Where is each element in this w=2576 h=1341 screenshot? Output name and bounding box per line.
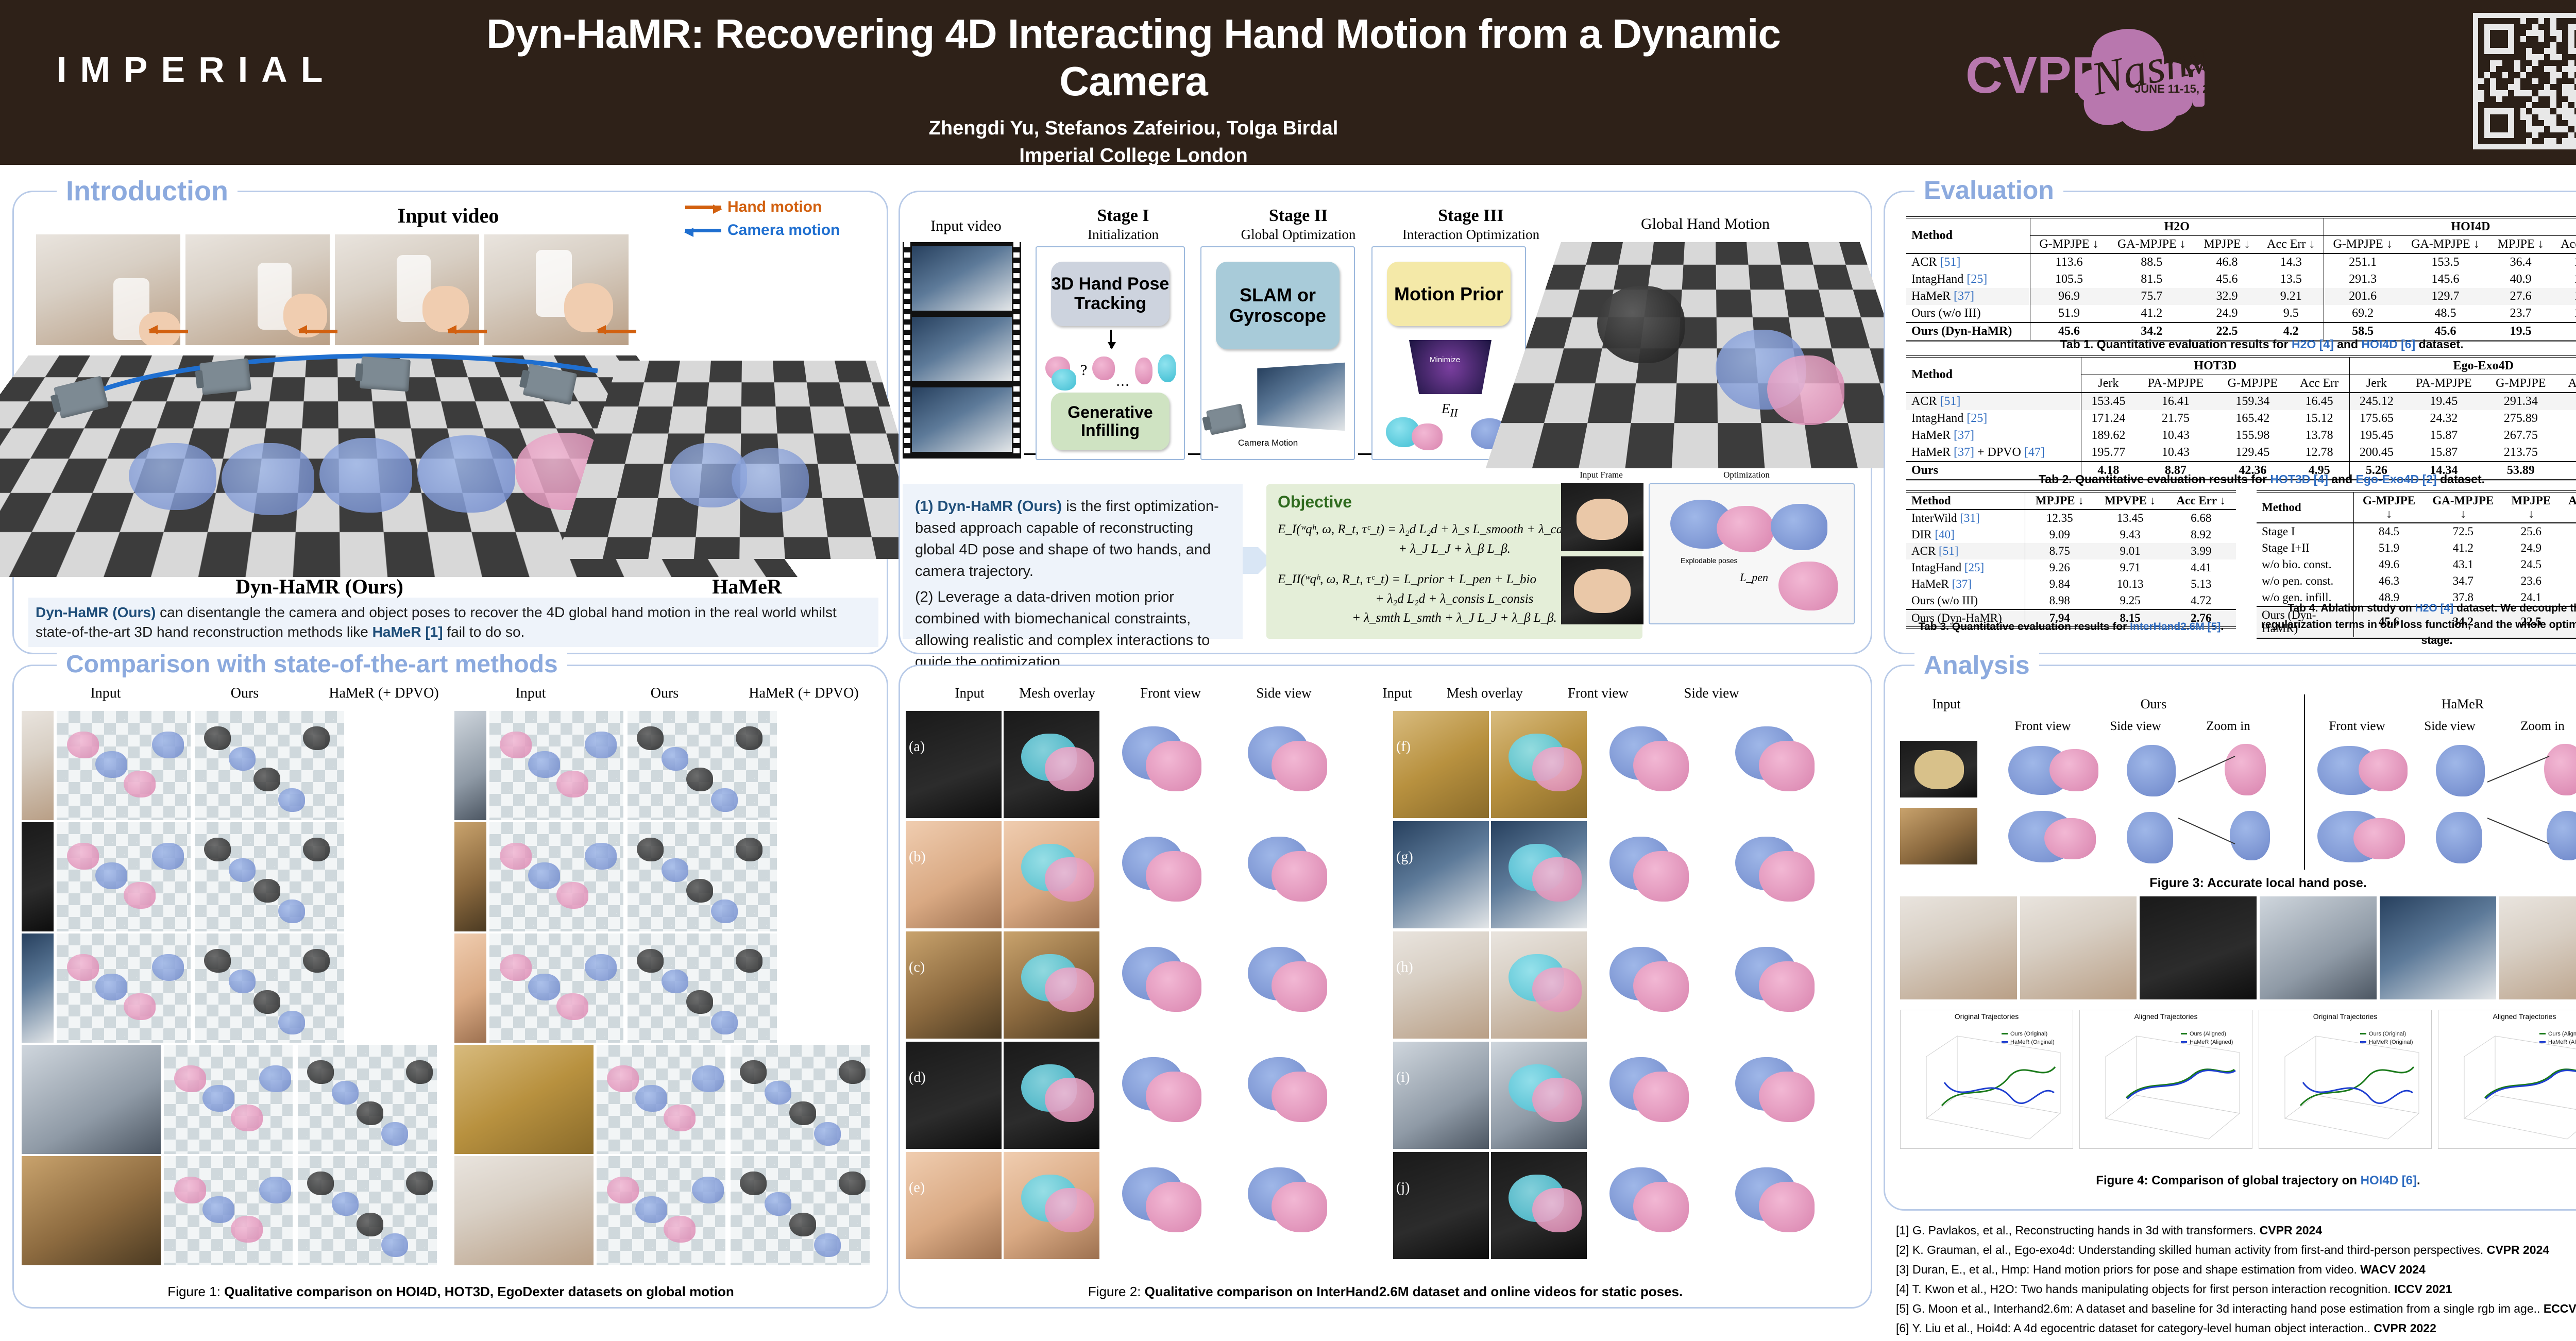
comparison-render-ours <box>489 711 623 820</box>
reference-venue: CVPR 2024 <box>2260 1224 2322 1237</box>
static-input-thumb: (j) <box>1393 1152 1489 1259</box>
reference-text: T. Kwon et al., H2O: Two hands manipulat… <box>1912 1282 2394 1296</box>
trajectory-plot-title: Original Trajectories <box>1901 1010 2073 1021</box>
input-frame-3 <box>335 234 479 345</box>
title-block: Dyn-HaMR: Recovering 4D Interacting Hand… <box>428 10 1839 167</box>
stage-3-id: Stage III <box>1386 206 1556 226</box>
figure-3-caption: Figure 3: Accurate local hand pose. <box>1900 876 2576 891</box>
introduction-caption: Dyn-HaMR (Ours) can disentangle the came… <box>28 598 878 647</box>
static-row-tag: (h) <box>1396 959 1413 976</box>
figure-4-caption: Figure 4: Comparison of global trajector… <box>1900 1174 2576 1188</box>
static-mesh-overlay <box>1004 1152 1099 1259</box>
intro-caption-tail: fail to do so. <box>443 624 525 640</box>
static-row-tag: (d) <box>909 1070 926 1086</box>
static-input-thumb: (h) <box>1393 931 1489 1039</box>
static-input-thumb: (e) <box>906 1152 1002 1259</box>
comparison-render-ours <box>597 1156 725 1265</box>
stage-1-chip-generative-infilling[interactable]: Generative Infilling <box>1051 393 1170 450</box>
reference-venue: ECCV 2020 <box>2544 1302 2576 1315</box>
comparison-col-header-2: HaMeR (+ DPVO) <box>325 685 443 702</box>
analysis-view-headers: Front viewSide viewZoom inFront viewSide… <box>1989 719 2576 740</box>
input-frame-sublabel: Input Frame <box>1560 470 1642 480</box>
static-input-thumb: (g) <box>1393 821 1489 928</box>
static-row-tag: (i) <box>1396 1070 1410 1086</box>
optimization-sublabel: Optimization <box>1659 470 1834 480</box>
analysis-render-row-2 <box>1900 808 2576 870</box>
hand-mesh-ours-1 <box>129 443 216 510</box>
comparison-input-thumb <box>454 933 486 1043</box>
table-1: MethodH2OHOI4DG-MPJPE ↓GA-MPJPE ↓MPJPE ↓… <box>1906 216 2576 342</box>
input-frame-1 <box>36 234 180 345</box>
contribution-2: (2) Leverage a data-driven motion prior … <box>915 586 1230 673</box>
comparison-render-ours <box>597 1045 725 1154</box>
static-input-thumb: (b) <box>906 821 1002 928</box>
input-frame-thumb-1 <box>1561 483 1643 551</box>
analysis-view-header-1: Side view <box>2087 719 2184 734</box>
analysis-view-header-4: Side view <box>2401 719 2499 734</box>
analysis-view-header-0: Front view <box>1994 719 2092 734</box>
analysis-group-header-ours: Ours <box>2009 697 2298 712</box>
static-front-view <box>1596 931 1709 1039</box>
section-title-evaluation: Evaluation <box>1914 175 2063 205</box>
hand-mesh-ours-4 <box>417 435 515 513</box>
comparison-render-baseline <box>731 1045 870 1154</box>
static-front-view <box>1109 711 1222 818</box>
cvpr-nashville-logo: CVPR Nashville JUNE 11-15, 2025 <box>1960 15 2208 139</box>
static-side-view <box>1713 711 1826 818</box>
trajectory-plot-title: Original Trajectories <box>2259 1010 2431 1021</box>
references-list: [1] G. Pavlakos, et al., Reconstructing … <box>1896 1224 2576 1341</box>
comparison-input-thumb <box>454 1045 594 1154</box>
static-col-header-3: Side view <box>1232 685 1335 701</box>
comparison-col-header-3: Input <box>471 685 590 702</box>
static-side-view <box>1225 1152 1338 1259</box>
svg-text:HaMeR (Original): HaMeR (Original) <box>2010 1039 2055 1045</box>
table-2-caption: Tab 2. Quantitative evaluation results f… <box>1906 472 2576 486</box>
static-input-thumb: (i) <box>1393 1042 1489 1149</box>
static-input-thumb: (d) <box>906 1042 1002 1149</box>
stage-3-subtitle: Interaction Optimization <box>1381 227 1561 243</box>
section-title-introduction: Introduction <box>57 175 238 207</box>
stage-1-tracked-hands: ? … <box>1043 350 1180 392</box>
analysis-view-header-3: Front view <box>2308 719 2406 734</box>
trajectory-plot-0: Original TrajectoriesOurs (Original)HaMe… <box>1900 1010 2073 1149</box>
reference-item: [1] G. Pavlakos, et al., Reconstructing … <box>1896 1224 2576 1237</box>
contributions-to-objective-arrow <box>1243 547 1258 574</box>
affiliation: Imperial College London <box>428 145 1839 167</box>
comparison-input-thumb <box>454 822 486 931</box>
static-mesh-overlay <box>1004 1042 1099 1149</box>
comparison-input-thumb <box>454 1156 594 1265</box>
comparison-render-baseline <box>195 822 344 931</box>
svg-text:Ours (Original): Ours (Original) <box>2369 1031 2406 1037</box>
optimization-thumb-box: Explodable poses L_pen <box>1649 483 1855 624</box>
static-front-view <box>1109 1152 1222 1259</box>
reference-text: G. Moon et al., Interhand2.6m: A dataset… <box>1912 1302 2544 1315</box>
global-hand-motion-render <box>1485 242 1935 468</box>
table-3: MethodMPJPE ↓MPVPE ↓Acc Err ↓InterWild [… <box>1906 490 2236 629</box>
static-row-tag: (j) <box>1396 1180 1410 1196</box>
static-side-view <box>1225 931 1338 1039</box>
legend-hand-motion: Hand motion <box>685 198 822 216</box>
svg-text:HaMeR (Original): HaMeR (Original) <box>2369 1039 2413 1045</box>
comparison-col-header-1: Ours <box>185 685 304 702</box>
static-row-tag: (c) <box>909 959 925 976</box>
svg-text:Ours (Aligned): Ours (Aligned) <box>2190 1031 2226 1037</box>
stage-1-chip-hand-pose-tracking[interactable]: 3D Hand Pose Tracking <box>1051 262 1170 326</box>
comparison-render-ours <box>489 822 623 931</box>
figure-2-caption: Figure 2: Qualitative comparison on Inte… <box>903 1284 1868 1300</box>
comparison-col-header-5: HaMeR (+ DPVO) <box>744 685 863 702</box>
analysis-group-header-hamer: HaMeR <box>2318 697 2576 712</box>
camera-icon-2 <box>199 358 251 395</box>
svg-text:JUNE 11-15, 2025: JUNE 11-15, 2025 <box>2134 82 2208 95</box>
static-col-header-1: Mesh overlay <box>1006 685 1109 701</box>
result-label-baseline: HaMeR <box>634 574 860 599</box>
reference-number: [3] <box>1896 1263 1909 1276</box>
comparison-render-ours <box>57 822 191 931</box>
hand-mesh-hamer-2 <box>732 448 809 513</box>
reference-number: [2] <box>1896 1243 1909 1257</box>
intro-caption-ref: HaMeR [1] <box>372 624 443 640</box>
comparison-render-ours <box>57 711 191 820</box>
svg-text:HaMeR (Aligned): HaMeR (Aligned) <box>2190 1039 2233 1045</box>
reference-item: [6] Y. Liu et al., Hoi4d: A 4d egocentri… <box>1896 1321 2576 1335</box>
hand-mesh-ours-2 <box>222 443 314 515</box>
stage-2-id: Stage II <box>1216 206 1381 226</box>
static-row-tag: (a) <box>909 739 925 755</box>
hand-motion-arrow-1 <box>149 330 188 333</box>
global-motion-hand-dark <box>1597 286 1685 363</box>
static-side-view <box>1713 1042 1826 1149</box>
comparison-input-thumb <box>22 711 54 820</box>
poster-header: IMPERIAL Dyn-HaMR: Recovering 4D Interac… <box>0 0 2576 165</box>
static-input-thumb: (c) <box>906 931 1002 1039</box>
table-4-caption: Tab 4. Ablation study on H2O [4] dataset… <box>2251 600 2576 649</box>
hand-motion-legend-label: Hand motion <box>727 198 822 216</box>
hand-motion-arrow-4 <box>598 330 636 333</box>
hand-motion-legend-arrow <box>685 206 721 209</box>
static-mesh-overlay <box>1004 931 1099 1039</box>
comparison-render-baseline <box>731 1156 870 1265</box>
reference-item: [4] T. Kwon et al., H2O: Two hands manip… <box>1896 1282 2576 1296</box>
section-title-comparison: Comparison with state-of-the-art methods <box>57 650 567 678</box>
comparison-input-thumb <box>22 1156 161 1265</box>
comparison-input-thumb <box>454 711 486 820</box>
static-side-view <box>1225 1042 1338 1149</box>
comparison-input-thumb <box>22 822 54 931</box>
static-input-thumb: (f) <box>1393 711 1489 818</box>
comparison-col-header-0: Input <box>46 685 165 702</box>
hand-mesh-ours-3 <box>319 438 412 513</box>
static-col-header-5: Mesh overlay <box>1433 685 1536 701</box>
comparison-render-baseline <box>195 933 344 1043</box>
trajectory-plot-title: Aligned Trajectories <box>2438 1010 2576 1021</box>
trajectory-plot-3: Aligned TrajectoriesOurs (Aligned)HaMeR … <box>2438 1010 2576 1149</box>
table-1-caption: Tab 1. Quantitative evaluation results f… <box>1906 337 2576 351</box>
pipeline-input-label: Input video <box>907 217 1025 235</box>
svg-text:HaMeR (Aligned): HaMeR (Aligned) <box>2548 1039 2576 1045</box>
comparison-render-baseline <box>628 711 777 820</box>
comparison-input-thumb <box>22 933 54 1043</box>
legend-camera-motion: Camera motion <box>685 222 840 239</box>
reference-text: Y. Liu et al., Hoi4d: A 4d egocentric da… <box>1912 1321 2374 1335</box>
static-mesh-overlay <box>1491 1042 1587 1149</box>
static-mesh-overlay <box>1004 821 1099 928</box>
stage-1-arrow-down <box>1110 330 1112 348</box>
stage-3-chip-motion-prior[interactable]: Motion Prior <box>1387 262 1511 326</box>
comparison-render-baseline <box>628 933 777 1043</box>
static-row-tag: (f) <box>1396 739 1411 755</box>
static-side-view <box>1713 1152 1826 1259</box>
global-motion-hand-pink <box>1767 355 1844 425</box>
static-mesh-overlay <box>1491 931 1587 1039</box>
stage-1-subtitle: Initialization <box>1046 227 1200 243</box>
camera-motion-legend-arrow <box>685 229 721 232</box>
reference-item: [5] G. Moon et al., Interhand2.6m: A dat… <box>1896 1302 2576 1316</box>
svg-text:Ours (Original): Ours (Original) <box>2010 1031 2047 1037</box>
static-side-view <box>1713 931 1826 1039</box>
static-row-tag: (b) <box>909 849 926 865</box>
analysis-photo-strip <box>1900 896 2576 999</box>
pipeline-output-label: Global Hand Motion <box>1592 215 1819 233</box>
static-col-header-7: Side view <box>1660 685 1763 701</box>
analysis-render-row-1 <box>1900 741 2576 803</box>
section-title-analysis: Analysis <box>1914 650 2039 680</box>
contributions-box: (1) Dyn-HaMR (Ours) is the first optimiz… <box>903 484 1243 639</box>
analysis-view-header-2: Zoom in <box>2179 719 2277 734</box>
static-row-tag: (g) <box>1396 849 1413 865</box>
result-label-ours: Dyn-HaMR (Ours) <box>160 574 479 599</box>
comparison-render-baseline <box>298 1045 437 1154</box>
input-video-label: Input video <box>350 203 546 228</box>
comparison-render-ours <box>489 933 623 1043</box>
pipeline-input-filmstrip <box>903 242 1021 459</box>
static-col-headers: InputMesh overlayFront viewSide viewInpu… <box>903 685 1868 707</box>
reference-venue: WACV 2024 <box>2360 1263 2426 1276</box>
hand-motion-arrow-3 <box>448 330 487 333</box>
stage-2-subtitle: Global Optimization <box>1211 227 1386 243</box>
reference-number: [4] <box>1896 1282 1909 1296</box>
reference-item: [2] K. Grauman, el al., Ego-exo4d: Under… <box>1896 1243 2576 1257</box>
reference-number: [1] <box>1896 1224 1909 1237</box>
static-poses-grid: (a)(b)(c)(d)(e)(f)(g)(h)(i)(j) <box>903 711 1868 1267</box>
comparison-input-thumb <box>22 1045 161 1154</box>
figure-1-caption: Figure 1: Qualitative comparison on HOI4… <box>21 1284 881 1300</box>
comparison-render-ours <box>164 1045 293 1154</box>
analysis-view-header-5: Zoom in <box>2494 719 2576 734</box>
static-front-view <box>1596 1152 1709 1259</box>
static-side-view <box>1713 821 1826 928</box>
static-mesh-overlay <box>1491 821 1587 928</box>
static-input-thumb: (a) <box>906 711 1002 818</box>
static-side-view <box>1225 821 1338 928</box>
trajectory-plot-title: Aligned Trajectories <box>2080 1010 2252 1021</box>
static-row-tag: (e) <box>909 1180 925 1196</box>
static-front-view <box>1596 821 1709 928</box>
static-front-view <box>1109 1042 1222 1149</box>
reference-number: [5] <box>1896 1302 1909 1315</box>
camera-motion-legend-label: Camera motion <box>727 222 840 239</box>
intro-caption-lead: Dyn-HaMR (Ours) <box>36 604 156 620</box>
static-mesh-overlay <box>1491 1152 1587 1259</box>
static-side-view <box>1225 711 1338 818</box>
table-3-caption: Tab 3. Quantitative evaluation results f… <box>1906 621 2236 633</box>
comparison-render-ours <box>57 933 191 1043</box>
static-mesh-overlay <box>1004 711 1099 818</box>
qr-code[interactable] <box>2473 13 2576 149</box>
static-front-view <box>1596 711 1709 818</box>
svg-text:Ours (Aligned): Ours (Aligned) <box>2548 1031 2576 1037</box>
stage-2-chip-slam-or-gyroscope[interactable]: SLAM or Gyroscope <box>1216 262 1340 349</box>
stage-2-camera-motion-viz: Camera Motion <box>1208 361 1350 459</box>
input-frame-4 <box>484 234 629 345</box>
static-front-view <box>1109 931 1222 1039</box>
comparison-col-header-4: Ours <box>605 685 724 702</box>
analysis-group-header-input: Input <box>1900 697 1993 712</box>
comparison-grid <box>20 711 885 1267</box>
hand-motion-arrow-2 <box>299 330 337 333</box>
static-mesh-overlay <box>1491 711 1587 818</box>
static-front-view <box>1109 821 1222 928</box>
static-front-view <box>1596 1042 1709 1149</box>
comparison-col-headers: InputOursHaMeR (+ DPVO)InputOursHaMeR (+… <box>15 685 886 707</box>
reference-venue: CVPR 2022 <box>2374 1321 2436 1335</box>
trajectory-plot-1: Aligned TrajectoriesOurs (Aligned)HaMeR … <box>2079 1010 2252 1149</box>
comparison-render-ours <box>164 1156 293 1265</box>
imperial-logo: IMPERIAL <box>57 49 336 90</box>
stage-1-id: Stage I <box>1051 206 1195 226</box>
static-col-header-6: Front view <box>1547 685 1650 701</box>
static-col-header-2: Front view <box>1119 685 1222 701</box>
comparison-render-baseline <box>298 1156 437 1265</box>
reference-number: [6] <box>1896 1321 1909 1335</box>
reference-venue: CVPR 2024 <box>2487 1243 2549 1257</box>
trajectory-plot-2: Original TrajectoriesOurs (Original)HaMe… <box>2259 1010 2432 1149</box>
contribution-1-lead: (1) Dyn-HaMR (Ours) <box>915 498 1062 515</box>
reference-venue: ICCV 2021 <box>2394 1282 2452 1296</box>
input-frame-thumb-2 <box>1561 556 1643 624</box>
table-2: MethodHOT3DEgo-Exo4DJerkPA-MPJPEG-MPJPEA… <box>1906 355 2576 481</box>
camera-icon-3 <box>360 357 411 392</box>
author-list: Zhengdi Yu, Stefanos Zafeiriou, Tolga Bi… <box>428 117 1839 140</box>
comparison-render-baseline <box>628 822 777 931</box>
trajectory-plots: Original TrajectoriesOurs (Original)HaMe… <box>1900 1010 2576 1164</box>
reference-text: G. Pavlakos, et al., Reconstructing hand… <box>1912 1224 2260 1237</box>
comparison-render-baseline <box>195 711 344 820</box>
reference-item: [3] Duran, E., et al., Hmp: Hand motion … <box>1896 1263 2576 1277</box>
input-frame-2 <box>185 234 330 345</box>
reference-text: K. Grauman, el al., Ego-exo4d: Understan… <box>1912 1243 2487 1257</box>
reference-text: Duran, E., et al., Hmp: Hand motion prio… <box>1912 1263 2360 1276</box>
page-title: Dyn-HaMR: Recovering 4D Interacting Hand… <box>428 10 1839 105</box>
